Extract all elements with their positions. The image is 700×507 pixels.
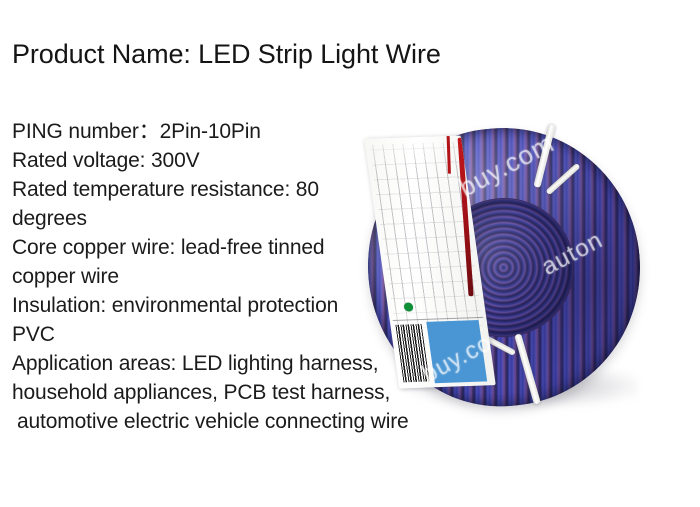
spec-line: Rated temperature resistance: 80 (12, 175, 512, 204)
page-title: Product Name: LED Strip Light Wire (12, 37, 441, 71)
spec-line: degrees (12, 204, 512, 233)
spec-line: automotive electric vehicle connecting w… (12, 407, 512, 436)
spec-line: household appliances, PCB test harness, (12, 378, 512, 407)
spec-line: copper wire (12, 262, 512, 291)
spec-line: PVC (12, 320, 512, 349)
spec-line: Application areas: LED lighting harness, (12, 349, 512, 378)
product-spec-card: buy.com auton buy.co Product Name: LED S… (0, 0, 700, 507)
spec-line: Insulation: environmental protection (12, 291, 512, 320)
specification-list: PING number：2Pin-10Pin Rated voltage: 30… (12, 117, 512, 436)
spec-line: PING number：2Pin-10Pin (12, 117, 512, 146)
spec-line: Core copper wire: lead-free tinned (12, 233, 512, 262)
spec-line: Rated voltage: 300V (12, 146, 512, 175)
